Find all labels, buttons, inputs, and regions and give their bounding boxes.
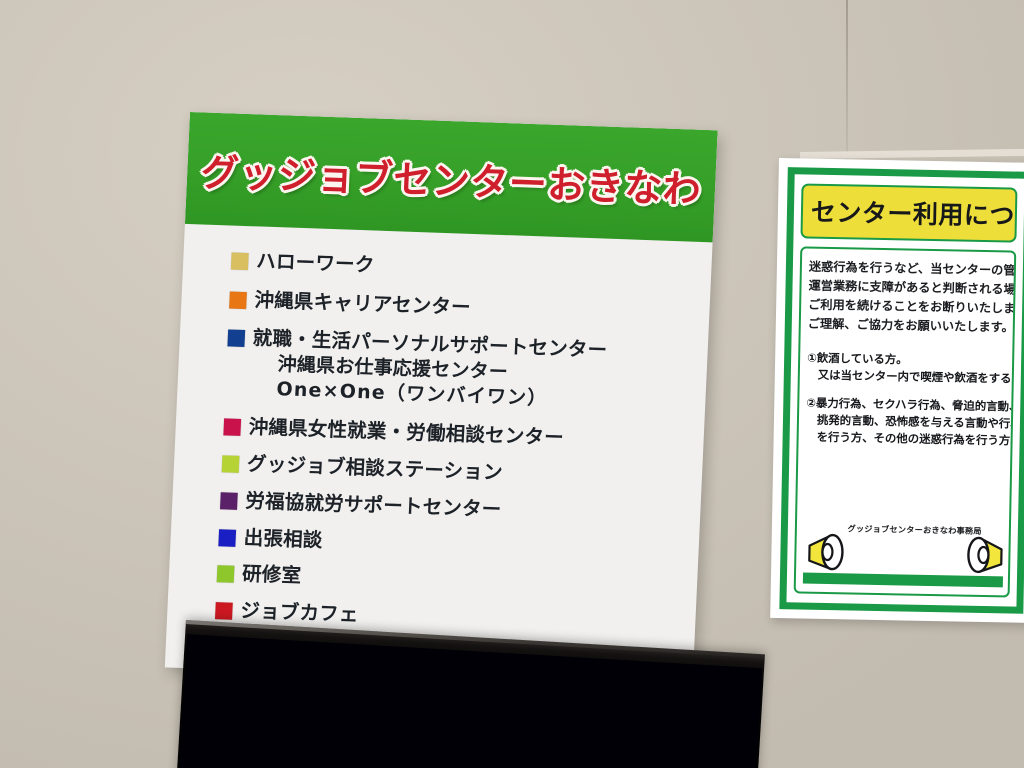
signboard-header-band: グッジョブセンターおきなわ xyxy=(185,112,718,242)
list-item-label: 研修室 xyxy=(242,561,302,589)
poster-title-box: センター利用について xyxy=(800,183,1017,242)
list-item-label: 沖縄県女性就業・労働相談センター xyxy=(248,415,564,452)
list-item: 労福協就労サポートセンター xyxy=(220,487,691,529)
color-swatch-icon xyxy=(231,253,249,271)
poster-title: センター利用について xyxy=(811,193,1012,233)
list-item: グッジョブ相談ステーション xyxy=(222,450,693,492)
poster-rules-list: ①飲酒している方。 又は当センター内で喫煙や飲酒をする方。 ②暴力行為、セクハラ… xyxy=(805,349,1007,449)
poster-rule-item: ②暴力行為、セクハラ行為、脅迫的言動、 挑発的言動、恐怖感を与える言動や行為 を… xyxy=(805,394,1006,449)
color-swatch-icon xyxy=(217,566,235,584)
center-usage-notice-poster: センター利用について 迷惑行為を行うなど、当センターの管理 運営業務に支障がある… xyxy=(770,158,1024,623)
list-item-label: 沖縄県キャリアセンター xyxy=(254,287,471,320)
list-item: ハローワーク xyxy=(231,248,702,290)
rule-marker: ② xyxy=(806,395,816,409)
list-item-label: 出張相談 xyxy=(243,525,323,553)
color-swatch-icon xyxy=(220,492,238,510)
megaphone-icon xyxy=(955,530,1010,581)
color-swatch-icon xyxy=(227,330,245,348)
color-swatch-icon xyxy=(229,291,247,309)
poster-rule-item: ①飲酒している方。 又は当センター内で喫煙や飲酒をする方。 xyxy=(807,349,1008,387)
monitor-screen xyxy=(177,634,762,768)
color-swatch-icon xyxy=(222,455,240,473)
signboard-title: グッジョブセンターおきなわ xyxy=(200,141,703,213)
list-item: 沖縄県女性就業・労働相談センター xyxy=(223,414,694,456)
rule-line: 暴力行為、セクハラ行為、脅迫的言動、 xyxy=(816,396,1016,414)
list-item-label: 労福協就労サポートセンター xyxy=(245,488,502,523)
color-swatch-icon xyxy=(223,419,241,437)
color-swatch-icon xyxy=(218,529,236,547)
wall-seam-line xyxy=(846,0,848,162)
poster-body-box: 迷惑行為を行うなど、当センターの管理 運営業務に支障があると判断される場合は ご… xyxy=(794,246,1017,597)
list-item-label: ハローワーク xyxy=(256,248,375,278)
megaphone-icon xyxy=(801,528,856,579)
list-item: 沖縄県キャリアセンター xyxy=(229,286,700,328)
signboard-facility-list: ハローワーク 沖縄県キャリアセンター 就職・生活パーソナルサポートセンター 沖縄… xyxy=(166,224,713,661)
poster-inner-frame: センター利用について 迷惑行為を行うなど、当センターの管理 運営業務に支障がある… xyxy=(779,167,1024,614)
rule-marker: ① xyxy=(807,350,817,364)
rule-line: を行う方、その他の迷惑行為を行う方。 xyxy=(805,429,1005,450)
rule-line: 又は当センター内で喫煙や飲酒をする方。 xyxy=(807,366,1007,387)
wall-trim-strip xyxy=(800,149,1024,159)
list-item-label: 就職・生活パーソナルサポートセンター 沖縄県お仕事応援センター One×One（… xyxy=(250,326,608,414)
room-wall-scene: グッジョブセンターおきなわ ハローワーク 沖縄県キャリアセンター 就職・生活パー… xyxy=(0,0,1024,768)
list-item: 出張相談 xyxy=(218,524,689,566)
color-swatch-icon xyxy=(215,602,233,620)
rule-line: 飲酒している方。 xyxy=(817,350,908,366)
good-job-center-signboard: グッジョブセンターおきなわ ハローワーク 沖縄県キャリアセンター 就職・生活パー… xyxy=(165,112,718,686)
list-item: 就職・生活パーソナルサポートセンター 沖縄県お仕事応援センター One×One（… xyxy=(225,325,698,417)
poster-footer: グッジョブセンターおきなわ事務局 xyxy=(803,510,1004,588)
poster-closing-line: ご理解、ご協力をお願いいたします。 xyxy=(808,314,1008,337)
list-item: 研修室 xyxy=(217,561,688,603)
list-item-label: グッジョブ相談ステーション xyxy=(247,451,504,486)
